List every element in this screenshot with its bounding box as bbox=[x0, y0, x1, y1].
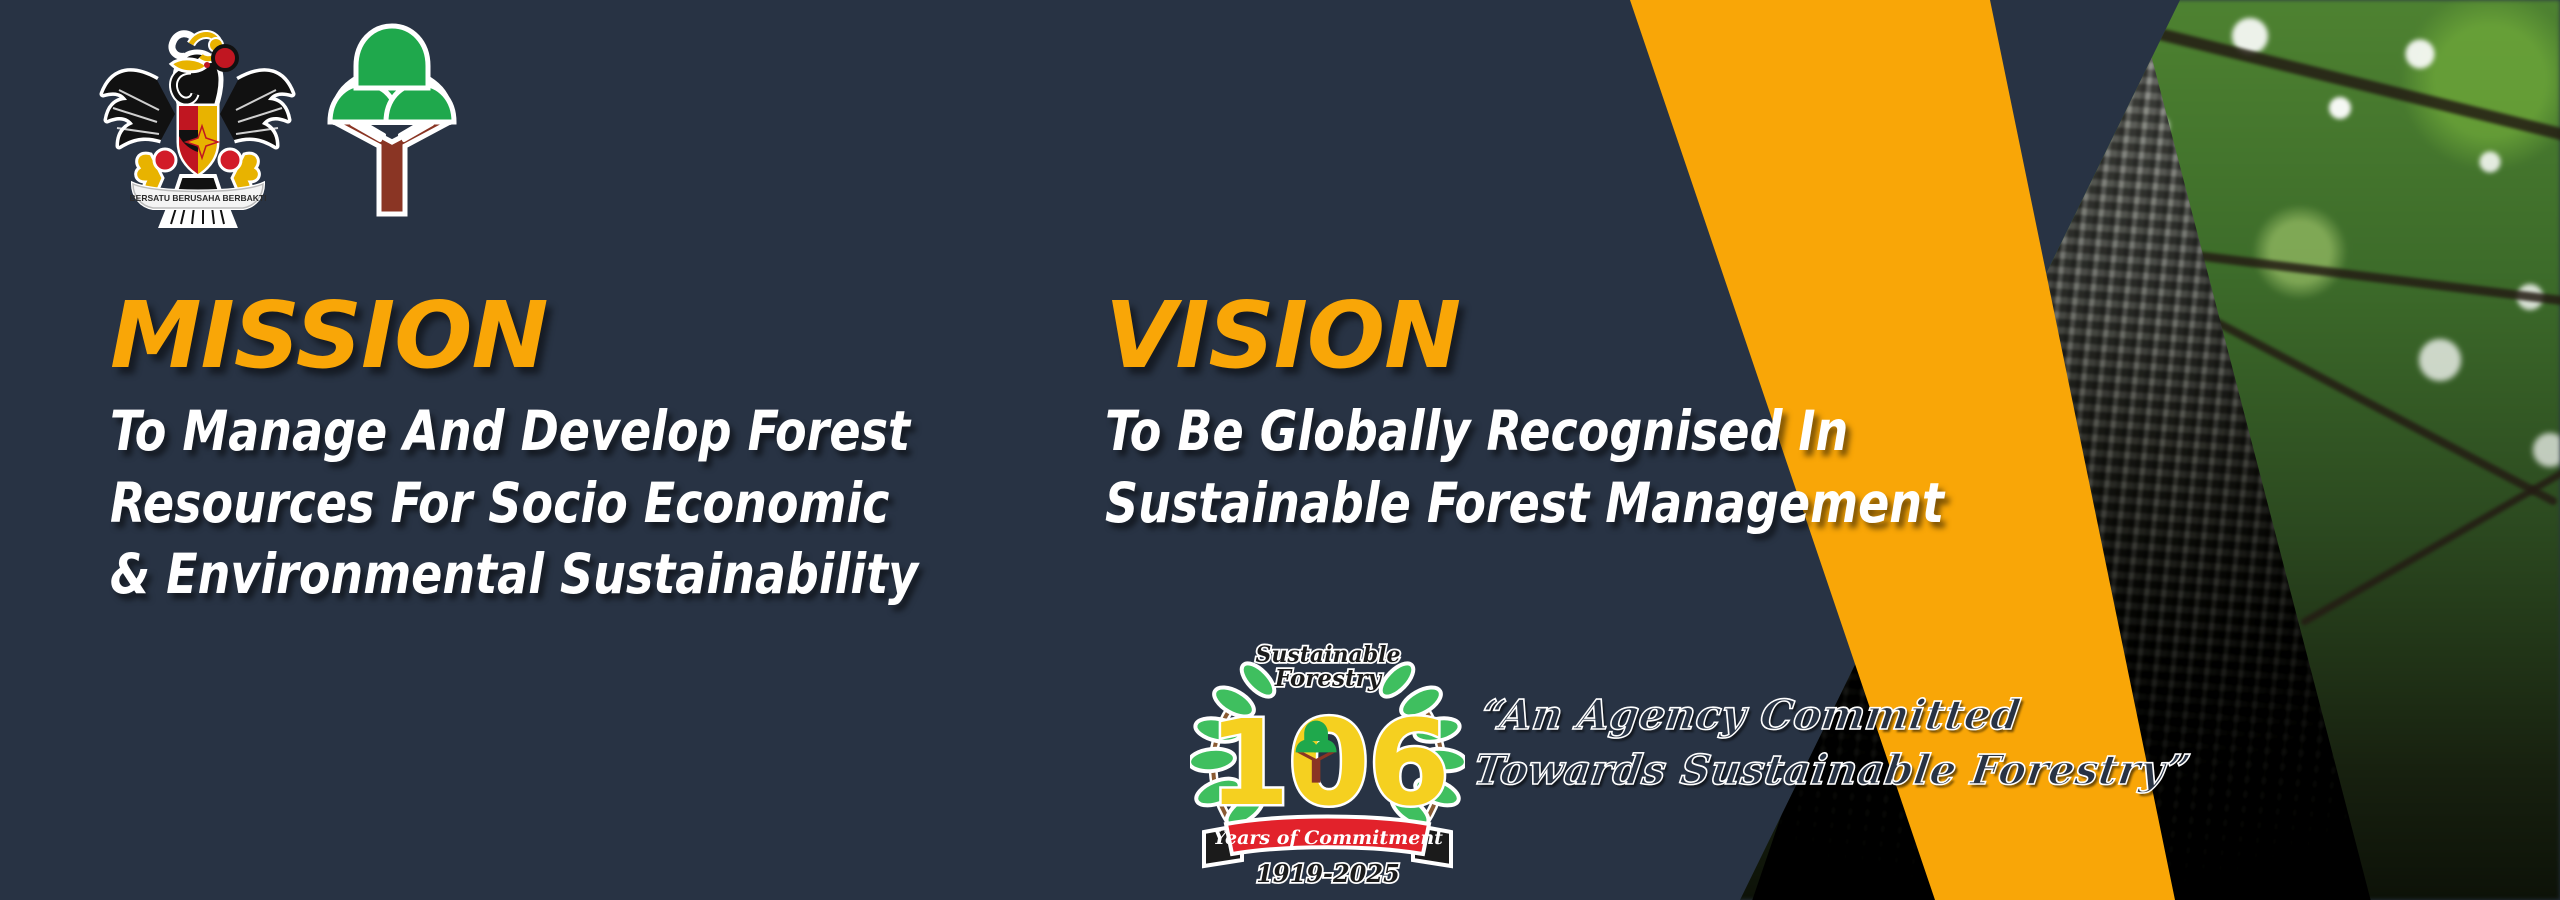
anniv-ribbon-text: Years of Commitment bbox=[1213, 827, 1443, 849]
tagline-line-1: “An Agency Committed bbox=[1478, 688, 2106, 743]
vision-heading: VISION bbox=[1105, 290, 2065, 382]
mission-heading: MISSION bbox=[110, 290, 1030, 382]
vision-line-2: Sustainable Forest Management bbox=[1105, 468, 1998, 540]
logo-group: BERSATU BERUSAHA BERBAKTI bbox=[95, 18, 462, 233]
mission-vision-banner: BERSATU BERUSAHA BERBAKTI MISSION To Man… bbox=[0, 0, 2560, 900]
mission-line-2: Resources For Socio Economic bbox=[110, 468, 966, 540]
sarawak-state-crest-icon: BERSATU BERUSAHA BERBAKTI bbox=[95, 18, 300, 233]
mission-line-1: To Manage And Develop Forest bbox=[110, 396, 966, 468]
anniversary-emblem-icon: Sustainable Forestry 106 Years of Commit… bbox=[1190, 632, 1465, 887]
forest-department-tree-logo-icon bbox=[322, 18, 462, 218]
mission-line-3: & Environmental Sustainability bbox=[110, 539, 966, 611]
mission-block: MISSION To Manage And Develop Forest Res… bbox=[110, 290, 1030, 611]
tagline: “An Agency Committed Towards Sustainable… bbox=[1470, 688, 2106, 799]
vision-block: VISION To Be Globally Recognised In Sust… bbox=[1105, 290, 2065, 539]
vision-text: To Be Globally Recognised In Sustainable… bbox=[1105, 396, 1998, 539]
anniv-years: 1919-2025 bbox=[1256, 859, 1400, 887]
mission-text: To Manage And Develop Forest Resources F… bbox=[110, 396, 966, 611]
tagline-line-2: Towards Sustainable Forestry” bbox=[1470, 743, 2098, 798]
crest-motto-text: BERSATU BERUSAHA BERBAKTI bbox=[130, 193, 267, 203]
vision-line-1: To Be Globally Recognised In bbox=[1105, 396, 1998, 468]
anniv-top-line-2: Forestry bbox=[1274, 665, 1383, 692]
anniversary-emblem: Sustainable Forestry 106 Years of Commit… bbox=[1190, 632, 1465, 887]
anniv-number: 106 bbox=[1208, 694, 1448, 832]
